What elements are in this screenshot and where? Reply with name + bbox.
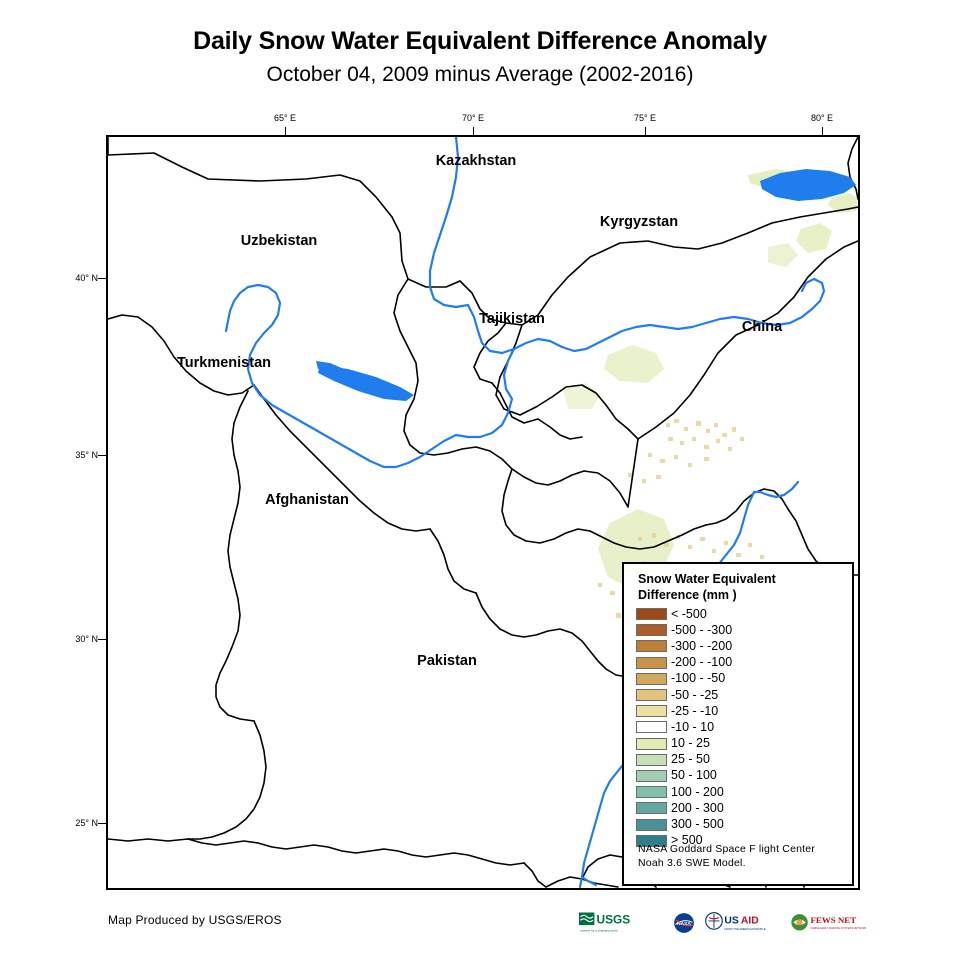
legend-credit: NASA Goddard Space F light Center Noah 3… bbox=[638, 842, 815, 870]
legend-credit-line1: NASA Goddard Space F light Center bbox=[638, 842, 815, 856]
legend-row: -50 - -25 bbox=[636, 687, 732, 703]
lat-tick-label-30: 30° N bbox=[70, 634, 98, 644]
legend-swatch bbox=[636, 754, 667, 766]
lat-tick-label-25: 25° N bbox=[70, 818, 98, 828]
usgs-logo: USGS science for a changing world bbox=[579, 911, 663, 935]
legend-row: 10 - 25 bbox=[636, 736, 732, 752]
svg-text:NASA: NASA bbox=[677, 921, 691, 927]
legend-label: 10 - 25 bbox=[671, 737, 710, 750]
legend-swatch bbox=[636, 802, 667, 814]
title-block: Daily Snow Water Equivalent Difference A… bbox=[0, 26, 960, 88]
legend-row: -25 - -10 bbox=[636, 703, 732, 719]
svg-text:USGS: USGS bbox=[597, 913, 631, 927]
legend-swatch bbox=[636, 705, 667, 717]
svg-text:FAMINE EARLY WARNING SYSTEMS N: FAMINE EARLY WARNING SYSTEMS NETWORK bbox=[811, 927, 867, 930]
lat-tick-mark-25 bbox=[98, 823, 106, 824]
page-subtitle: October 04, 2009 minus Average (2002-201… bbox=[0, 62, 960, 88]
legend-row: 25 - 50 bbox=[636, 752, 732, 768]
legend-row: < -500 bbox=[636, 606, 732, 622]
page-title: Daily Snow Water Equivalent Difference A… bbox=[0, 26, 960, 56]
lat-tick-label-40: 40° N bbox=[70, 273, 98, 283]
legend-label: 50 - 100 bbox=[671, 769, 717, 782]
legend-row: 300 - 500 bbox=[636, 816, 732, 832]
map-producer-credit: Map Produced by USGS/EROS bbox=[108, 913, 282, 927]
legend-row: -10 - 10 bbox=[636, 719, 732, 735]
lon-tick-label-65: 65° E bbox=[274, 113, 296, 123]
legend-label: -10 - 10 bbox=[671, 721, 714, 734]
legend-title-line2: Difference (mm ) bbox=[638, 587, 843, 603]
legend-label: 25 - 50 bbox=[671, 753, 710, 766]
lat-tick-label-35: 35° N bbox=[70, 450, 98, 460]
legend-row: -200 - -100 bbox=[636, 655, 732, 671]
legend-swatch bbox=[636, 721, 667, 733]
legend-row: 100 - 200 bbox=[636, 784, 732, 800]
legend-swatch bbox=[636, 689, 667, 701]
svg-text:FROM THE AMERICAN PEOPLE: FROM THE AMERICAN PEOPLE bbox=[724, 927, 765, 931]
lat-tick-mark-30 bbox=[98, 639, 106, 640]
legend-label: -25 - -10 bbox=[671, 705, 718, 718]
lon-tick-mark-65 bbox=[285, 127, 286, 135]
legend-label: -200 - -100 bbox=[671, 656, 732, 669]
legend-swatch bbox=[636, 673, 667, 685]
legend-label: 200 - 300 bbox=[671, 802, 724, 815]
legend-row: 200 - 300 bbox=[636, 800, 732, 816]
svg-text:AID: AID bbox=[741, 916, 759, 927]
legend-label: -300 - -200 bbox=[671, 640, 732, 653]
nasa-logo: NASA bbox=[672, 911, 696, 935]
lon-tick-mark-70 bbox=[473, 127, 474, 135]
legend-row: -500 - -300 bbox=[636, 622, 732, 638]
logo-strip: USGS science for a changing world NASA U… bbox=[579, 908, 872, 938]
lat-tick-mark-35 bbox=[98, 455, 106, 456]
legend-row: 50 - 100 bbox=[636, 768, 732, 784]
fewsnet-logo: FEWS NET FAMINE EARLY WARNING SYSTEMS NE… bbox=[790, 911, 872, 935]
lon-tick-mark-75 bbox=[645, 127, 646, 135]
lat-tick-mark-40 bbox=[98, 278, 106, 279]
legend-title-line1: Snow Water Equivalent bbox=[638, 571, 843, 587]
legend-title: Snow Water Equivalent Difference (mm ) bbox=[638, 571, 843, 603]
svg-text:FEWS NET: FEWS NET bbox=[811, 915, 857, 925]
legend-row: -300 - -200 bbox=[636, 638, 732, 654]
legend-credit-line2: Noah 3.6 SWE Model. bbox=[638, 856, 815, 870]
legend-panel: Snow Water Equivalent Difference (mm ) <… bbox=[622, 562, 854, 886]
lon-tick-label-80: 80° E bbox=[811, 113, 833, 123]
legend-swatch bbox=[636, 608, 667, 620]
legend-items: < -500-500 - -300-300 - -200-200 - -100-… bbox=[636, 606, 732, 849]
legend-label: -100 - -50 bbox=[671, 672, 725, 685]
legend-row: -100 - -50 bbox=[636, 671, 732, 687]
legend-swatch bbox=[636, 786, 667, 798]
legend-swatch bbox=[636, 770, 667, 782]
usaid-logo: US AID FROM THE AMERICAN PEOPLE bbox=[705, 911, 781, 935]
legend-swatch bbox=[636, 738, 667, 750]
legend-swatch bbox=[636, 657, 667, 669]
legend-label: 300 - 500 bbox=[671, 818, 724, 831]
lon-tick-mark-80 bbox=[822, 127, 823, 135]
svg-text:US: US bbox=[724, 916, 738, 927]
legend-label: -500 - -300 bbox=[671, 624, 732, 637]
legend-swatch bbox=[636, 819, 667, 831]
lon-tick-label-75: 75° E bbox=[634, 113, 656, 123]
svg-text:science for a changing world: science for a changing world bbox=[580, 928, 617, 932]
legend-label: < -500 bbox=[671, 608, 707, 621]
legend-swatch bbox=[636, 640, 667, 652]
legend-label: -50 - -25 bbox=[671, 689, 718, 702]
legend-swatch bbox=[636, 624, 667, 636]
lon-tick-label-70: 70° E bbox=[462, 113, 484, 123]
legend-label: 100 - 200 bbox=[671, 786, 724, 799]
